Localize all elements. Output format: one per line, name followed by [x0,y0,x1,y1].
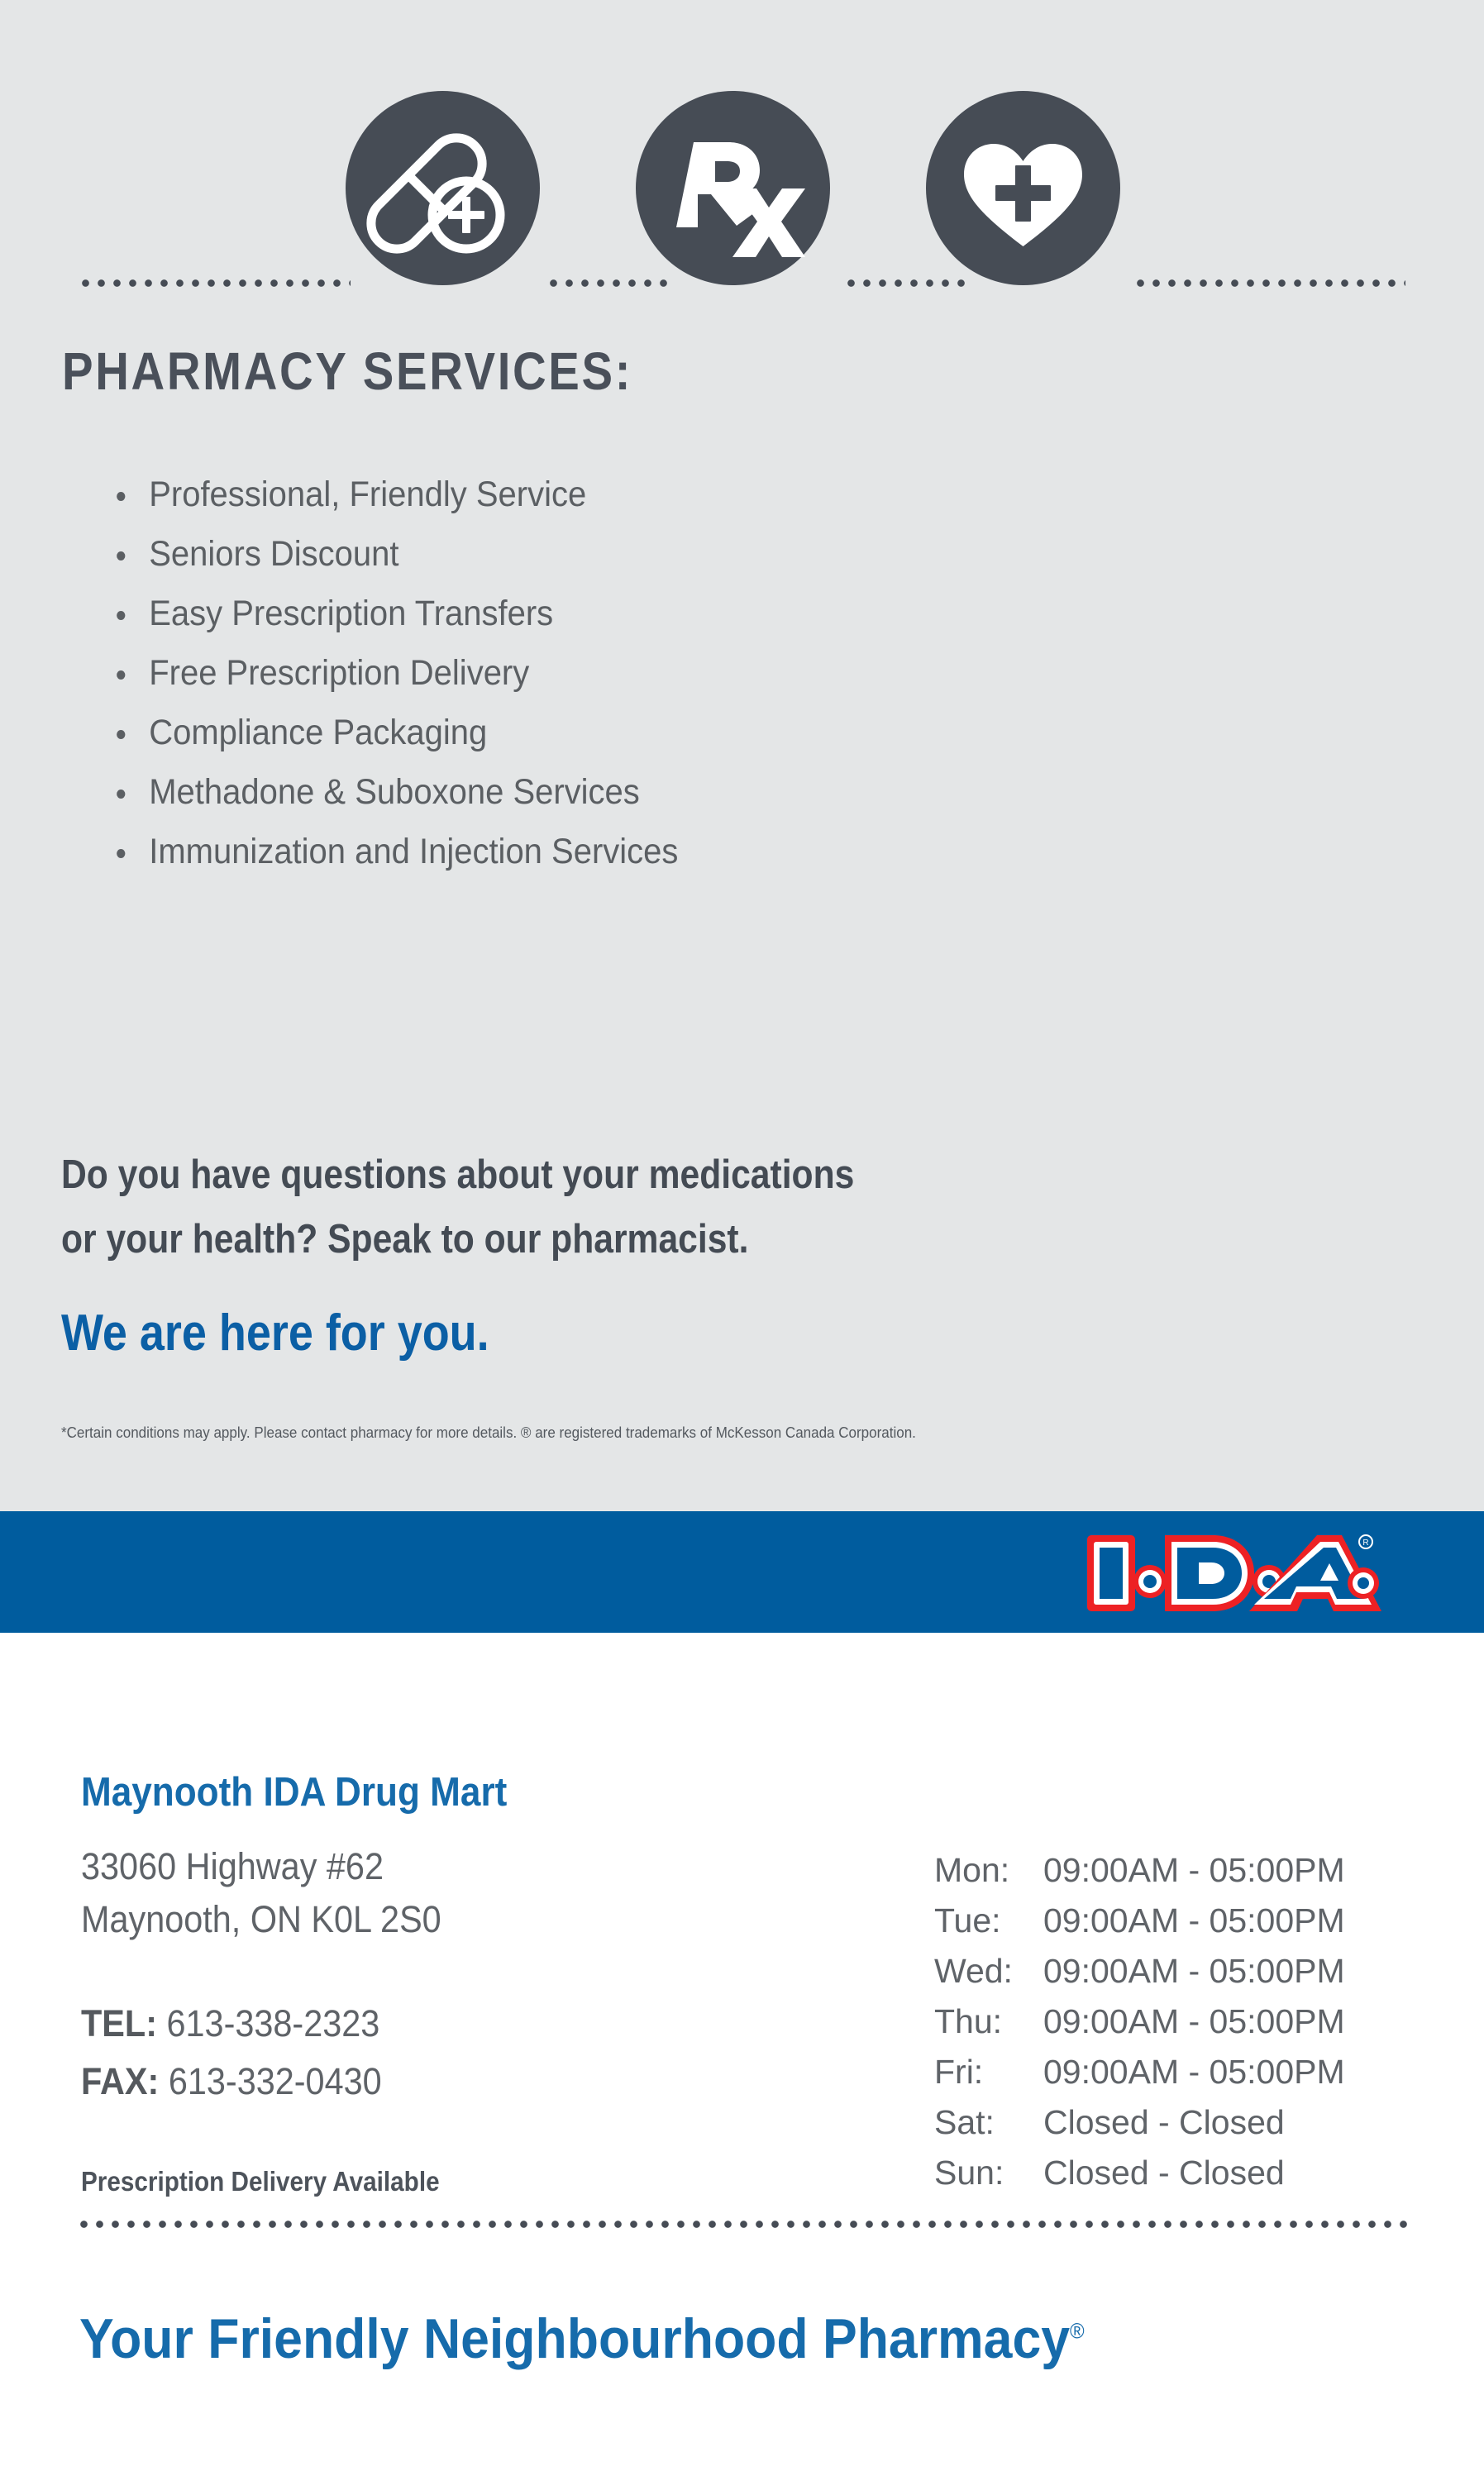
telephone-value[interactable]: 613-338-2323 [167,2002,380,2044]
services-title: PHARMACY SERVICES: [62,341,632,402]
hours-table: Mon: 09:00AM - 05:00PM Tue: 09:00AM - 05… [934,1845,1345,2198]
telephone-label: TEL: [81,2002,157,2044]
hours-range: 09:00AM - 05:00PM [1043,1896,1345,1946]
registered-mark: ® [1070,2318,1085,2343]
hours-range: 09:00AM - 05:00PM [1043,2047,1345,2097]
dotted-rule-left [78,278,351,289]
hours-range: Closed - Closed [1043,2097,1345,2148]
heart-plus-icon [926,91,1120,285]
address-line-1: 33060 Highway #62 [81,1845,384,1888]
rx-symbol-icon [636,91,830,285]
hours-day: Sat: [934,2097,1043,2148]
fax-label: FAX: [81,2060,159,2102]
hours-day: Tue: [934,1896,1043,1946]
cta-headline: We are here for you. [61,1303,1140,1364]
pill-capsule-plus-icon [346,91,540,285]
address-line-2: Maynooth, ON K0L 2S0 [81,1898,441,1941]
hours-day: Sun: [934,2148,1043,2198]
table-row: Fri: 09:00AM - 05:00PM [934,2047,1345,2097]
question-line-2: or your health? Speak to our pharmacist. [61,1207,1140,1271]
footer-tagline-text: Your Friendly Neighbourhood Pharmacy [79,2307,1070,2370]
list-item: Professional, Friendly Service [107,465,1030,524]
hours-range: Closed - Closed [1043,2148,1345,2198]
store-name: Maynooth IDA Drug Mart [81,1769,507,1815]
table-row: Mon: 09:00AM - 05:00PM [934,1845,1345,1896]
dotted-rule-right [1133,278,1405,289]
table-row: Sun: Closed - Closed [934,2148,1345,2198]
hours-day: Wed: [934,1946,1043,1997]
telephone-row: TEL: 613-338-2323 [81,2002,379,2045]
list-item: Immunization and Injection Services [107,822,1030,881]
hours-day: Thu: [934,1997,1043,2047]
fax-row: FAX: 613-332-0430 [81,2060,382,2103]
question-line-1: Do you have questions about your medicat… [61,1143,1140,1207]
list-item: Free Prescription Delivery [107,643,1030,703]
list-item: Compliance Packaging [107,703,1030,762]
hours-range: 09:00AM - 05:00PM [1043,1946,1345,1997]
icon-strip [0,91,1484,293]
pharmacy-flyer-page: PHARMACY SERVICES: Professional, Friendl… [0,0,1484,2476]
hours-range: 09:00AM - 05:00PM [1043,1997,1345,2047]
hours-day: Fri: [934,2047,1043,2097]
list-item: Easy Prescription Transfers [107,584,1030,643]
table-row: Thu: 09:00AM - 05:00PM [934,1997,1345,2047]
table-row: Wed: 09:00AM - 05:00PM [934,1946,1345,1997]
question-block: Do you have questions about your medicat… [61,1143,1301,1364]
table-row: Sat: Closed - Closed [934,2097,1345,2148]
ida-logo: R [1082,1524,1383,1621]
list-item: Methadone & Suboxone Services [107,762,1030,822]
fax-value: 613-332-0430 [169,2060,382,2102]
services-list: Professional, Friendly Service Seniors D… [107,465,1100,881]
hours-day: Mon: [934,1845,1043,1896]
hours-range: 09:00AM - 05:00PM [1043,1845,1345,1896]
list-item: Seniors Discount [107,524,1030,584]
svg-text:R: R [1362,1539,1368,1548]
footer-tagline: Your Friendly Neighbourhood Pharmacy® [79,2307,1085,2371]
table-row: Tue: 09:00AM - 05:00PM [934,1896,1345,1946]
delivery-note: Prescription Delivery Available [81,2166,440,2197]
dotted-rule-footer [76,2219,1407,2230]
disclaimer-text: *Certain conditions may apply. Please co… [61,1424,916,1442]
